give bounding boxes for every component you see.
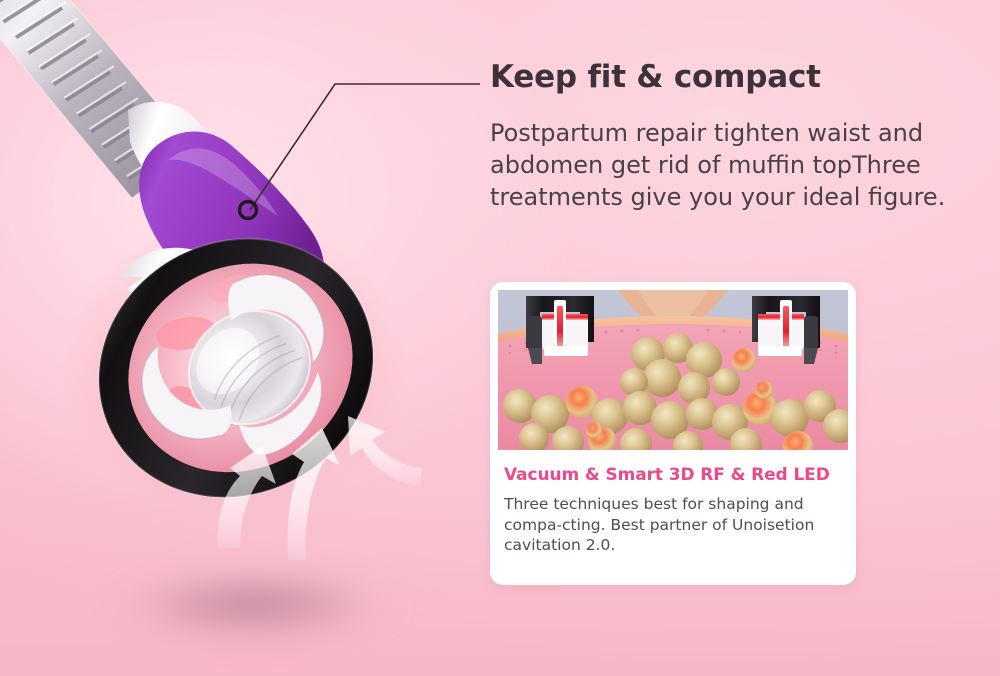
applicator-head-right (752, 296, 820, 364)
applicator-head-left (526, 296, 594, 364)
card-body-text: Three techniques best for shaping and co… (504, 494, 834, 556)
feature-card[interactable]: Vacuum & Smart 3D RF & Red LED Three tec… (490, 282, 856, 585)
treatment-diagram-image (498, 290, 848, 450)
page-title: Keep fit & compact (490, 60, 960, 94)
subcopy-paragraph: Postpartum repair tighten waist and abdo… (490, 118, 960, 214)
card-title: Vacuum & Smart 3D RF & Red LED (504, 465, 848, 485)
marketing-banner: Keep fit & compact Postpartum repair tig… (0, 0, 1000, 676)
text-column: Keep fit & compact Postpartum repair tig… (490, 60, 960, 214)
product-device-illustration (0, 0, 470, 620)
